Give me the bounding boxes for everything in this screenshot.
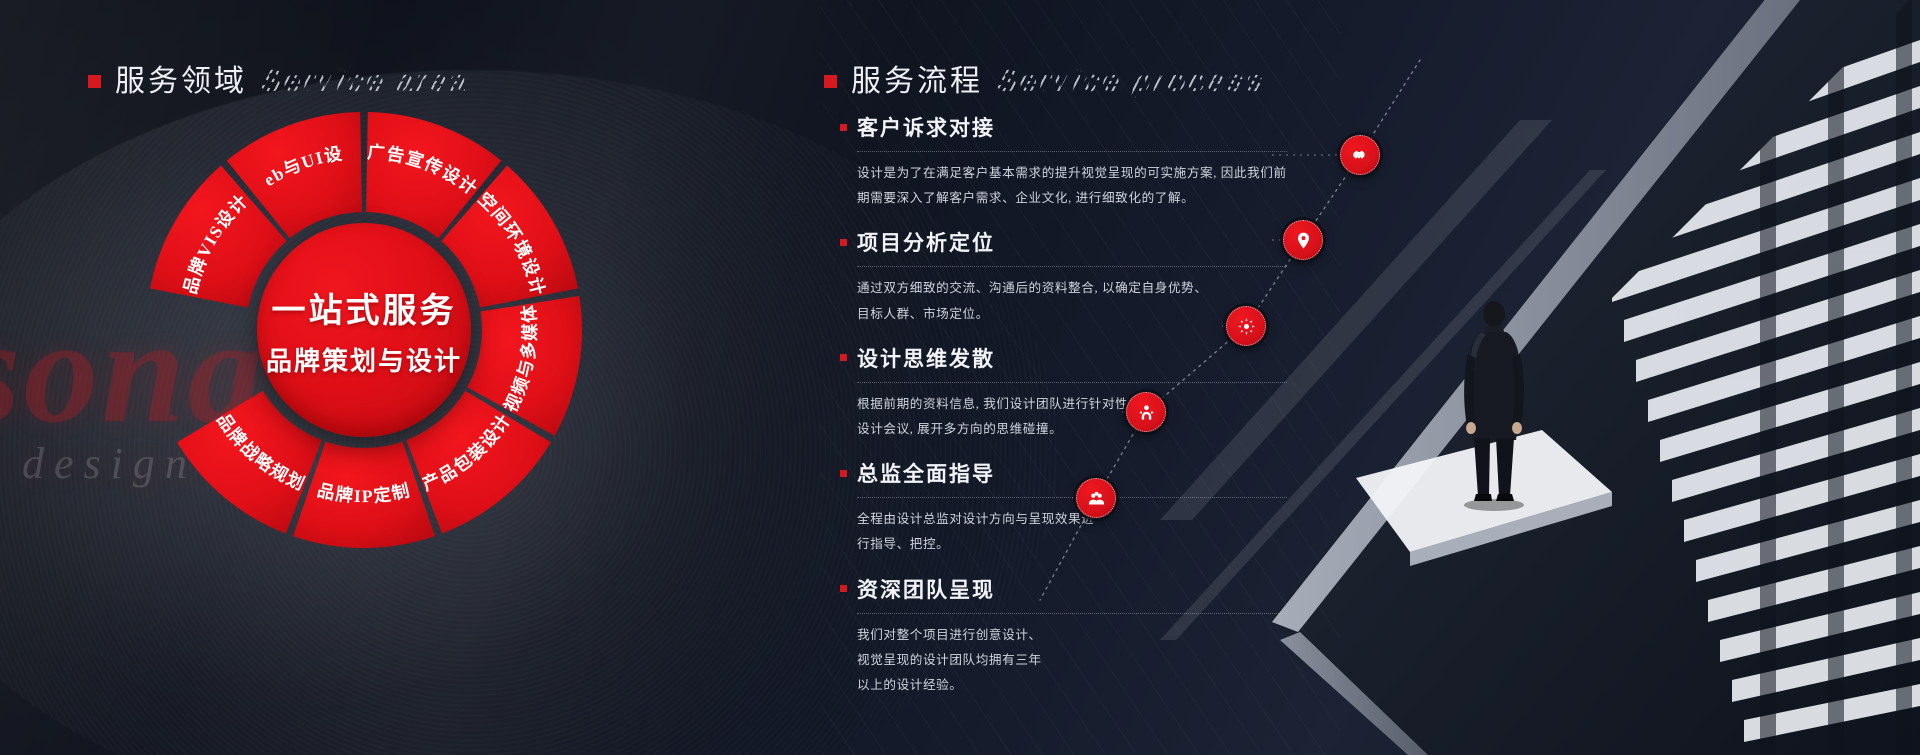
step-bullet-icon (840, 124, 847, 131)
step-bullet-icon (840, 585, 847, 592)
heading-service-area-cn: 服务领域 (115, 56, 247, 100)
heading-service-process-en: Service process (997, 63, 1265, 99)
process-step-body: 设计是为了在满足客户基本需求的提升视觉呈现的可实施方案, 因此我们前期需要深入了… (857, 161, 1310, 211)
process-step-body-line: 设计是为了在满足客户基本需求的提升视觉呈现的可实施方案, 因此我们前 (857, 161, 1310, 186)
standing-figure (1464, 301, 1524, 511)
donut-center-title: 一站式服务 (272, 283, 457, 332)
process-step-body-line: 以上的设计经验。 (857, 673, 1310, 698)
step-divider (857, 266, 1287, 267)
process-step: 资深团队呈现我们对整个项目进行创意设计、视觉呈现的设计团队均拥有三年以上的设计经… (840, 574, 1310, 699)
step-divider (857, 382, 1287, 383)
step-divider (857, 613, 1287, 614)
timeline-node-team-group[interactable] (1076, 478, 1116, 518)
process-step-body: 全程由设计总监对设计方向与呈现效果进行指导、把控。 (857, 507, 1310, 557)
slide-root: sona design (0, 0, 1920, 755)
process-step-title-text: 客户诉求对接 (857, 112, 995, 142)
process-step-body-line: 期需要深入了解客户需求、企业文化, 进行细致化的了解。 (857, 186, 1310, 211)
process-step-title[interactable]: 资深团队呈现 (840, 574, 1310, 604)
team-group-icon (1087, 489, 1106, 508)
heading-service-process-cn: 服务流程 (851, 56, 983, 100)
process-step-title[interactable]: 总监全面指导 (840, 458, 1310, 488)
heading-service-area: 服务领域 Service area (88, 56, 468, 100)
step-divider (857, 497, 1287, 498)
director-guide-icon (1137, 403, 1156, 422)
process-step-body-line: 通过双方细致的交流、沟通后的资料整合, 以确定自身优势、 (857, 276, 1310, 301)
heading-marker-icon (88, 75, 101, 88)
service-process-list: 客户诉求对接设计是为了在满足客户基本需求的提升视觉呈现的可实施方案, 因此我们前… (840, 112, 1310, 714)
heading-service-process: 服务流程 Service process (824, 56, 1265, 100)
heading-service-area-en: Service area (261, 63, 468, 99)
process-step: 客户诉求对接设计是为了在满足客户基本需求的提升视觉呈现的可实施方案, 因此我们前… (840, 112, 1310, 211)
step-bullet-icon (840, 470, 847, 477)
step-bullet-icon (840, 239, 847, 246)
process-step-title[interactable]: 项目分析定位 (840, 227, 1310, 257)
process-step-body-line: 行指导、把控。 (857, 532, 1310, 557)
process-step: 设计思维发散根据前期的资料信息, 我们设计团队进行针对性的设计会议, 展开多方向… (840, 343, 1310, 442)
timeline-node-target-locate[interactable] (1283, 220, 1323, 260)
step-divider (857, 151, 1287, 152)
timeline-node-handshake[interactable] (1340, 135, 1380, 175)
process-step-title-text: 设计思维发散 (857, 343, 995, 373)
process-step-title[interactable]: 设计思维发散 (840, 343, 1310, 373)
process-step-title[interactable]: 客户诉求对接 (840, 112, 1310, 142)
process-step-body-line: 视觉呈现的设计团队均拥有三年 (857, 648, 1310, 673)
handshake-icon (1351, 146, 1370, 165)
step-bullet-icon (840, 354, 847, 361)
process-step-title-text: 资深团队呈现 (857, 574, 995, 604)
process-step-title-text: 总监全面指导 (857, 458, 995, 488)
process-step-body: 根据前期的资料信息, 我们设计团队进行针对性的设计会议, 展开多方向的思维碰撞。 (857, 392, 1310, 442)
donut-center-hub: 一站式服务 品牌策划与设计 (257, 223, 471, 437)
idea-burst-icon (1237, 317, 1256, 336)
process-step-body-line: 根据前期的资料信息, 我们设计团队进行针对性的 (857, 392, 1310, 417)
timeline-node-director-guide[interactable] (1126, 392, 1166, 432)
process-step-body: 我们对整个项目进行创意设计、视觉呈现的设计团队均拥有三年以上的设计经验。 (857, 623, 1310, 699)
heading-marker-icon (824, 75, 837, 88)
timeline-node-idea-burst[interactable] (1226, 306, 1266, 346)
process-step-body-line: 我们对整个项目进行创意设计、 (857, 623, 1310, 648)
donut-center-subtitle: 品牌策划与设计 (266, 341, 462, 378)
process-step-body-line: 设计会议, 展开多方向的思维碰撞。 (857, 417, 1310, 442)
service-area-donut: 品牌VIS设计Web与UI设计广告宣传设计空间环境设计视频与多媒体产品包装设计品… (144, 110, 584, 550)
process-step-title-text: 项目分析定位 (857, 227, 995, 257)
target-locate-icon (1294, 231, 1313, 250)
process-step: 总监全面指导全程由设计总监对设计方向与呈现效果进行指导、把控。 (840, 458, 1310, 557)
